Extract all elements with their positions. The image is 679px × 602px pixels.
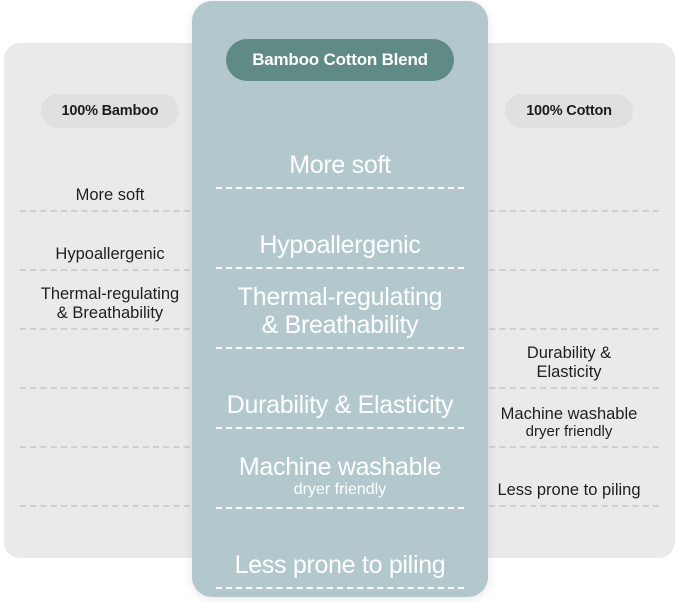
feature-row: Machine washable dryer friendly bbox=[216, 429, 464, 509]
comparison-column-cotton: 100% Cotton Durability &Elasticity Machi… bbox=[463, 43, 675, 558]
feature-label: Durability &Elasticity bbox=[527, 344, 611, 381]
feature-row: More soft bbox=[216, 109, 464, 189]
feature-row: Thermal-regulating& Breathability bbox=[216, 269, 464, 349]
comparison-column-blend-highlighted: Bamboo Cotton Blend More soft Hypoallerg… bbox=[192, 1, 488, 597]
feature-label: Hypoallergenic bbox=[55, 245, 164, 263]
feature-label: Durability & Elasticity bbox=[227, 391, 454, 419]
feature-label: Less prone to piling bbox=[235, 551, 446, 579]
column-badge-bamboo: 100% Bamboo bbox=[41, 94, 180, 128]
feature-row: Durability &Elasticity bbox=[479, 330, 659, 389]
feature-row-empty bbox=[20, 448, 200, 507]
feature-label: Machine washable bbox=[239, 453, 441, 481]
feature-row-empty bbox=[20, 330, 200, 389]
feature-label: Thermal-regulating& Breathability bbox=[238, 283, 442, 339]
feature-label: Less prone to piling bbox=[497, 481, 640, 499]
comparison-column-bamboo: 100% Bamboo More soft Hypoallergenic The… bbox=[4, 43, 216, 558]
feature-label: Machine washable bbox=[501, 405, 638, 423]
feature-row-empty bbox=[20, 389, 200, 448]
column-badge-blend: Bamboo Cotton Blend bbox=[226, 39, 454, 81]
feature-sublabel: dryer friendly bbox=[294, 481, 386, 499]
feature-row-empty bbox=[479, 271, 659, 330]
feature-list-cotton: Durability &Elasticity Machine washable … bbox=[463, 153, 675, 507]
feature-list-blend: More soft Hypoallergenic Thermal-regulat… bbox=[192, 109, 488, 589]
comparison-diagram: 100% Bamboo More soft Hypoallergenic The… bbox=[0, 0, 679, 602]
feature-sublabel: dryer friendly bbox=[526, 424, 613, 441]
feature-row: More soft bbox=[20, 153, 200, 212]
feature-row-empty bbox=[479, 153, 659, 212]
feature-row: Durability & Elasticity bbox=[216, 349, 464, 429]
badge-container-cotton: 100% Cotton bbox=[463, 94, 675, 128]
feature-row-empty bbox=[479, 212, 659, 271]
feature-row: Less prone to piling bbox=[479, 448, 659, 507]
column-badge-cotton: 100% Cotton bbox=[505, 94, 633, 128]
feature-label: Hypoallergenic bbox=[259, 231, 420, 259]
feature-row: Hypoallergenic bbox=[20, 212, 200, 271]
feature-label: Thermal-regulating& Breathability bbox=[41, 285, 179, 322]
feature-row: Hypoallergenic bbox=[216, 189, 464, 269]
feature-label: More soft bbox=[289, 151, 391, 179]
feature-list-bamboo: More soft Hypoallergenic Thermal-regulat… bbox=[4, 153, 216, 507]
badge-container-bamboo: 100% Bamboo bbox=[4, 94, 216, 128]
feature-label: More soft bbox=[76, 186, 145, 204]
feature-row: Less prone to piling bbox=[216, 509, 464, 589]
badge-container-blend: Bamboo Cotton Blend bbox=[192, 39, 488, 81]
feature-row: Thermal-regulating& Breathability bbox=[20, 271, 200, 330]
feature-row: Machine washable dryer friendly bbox=[479, 389, 659, 448]
